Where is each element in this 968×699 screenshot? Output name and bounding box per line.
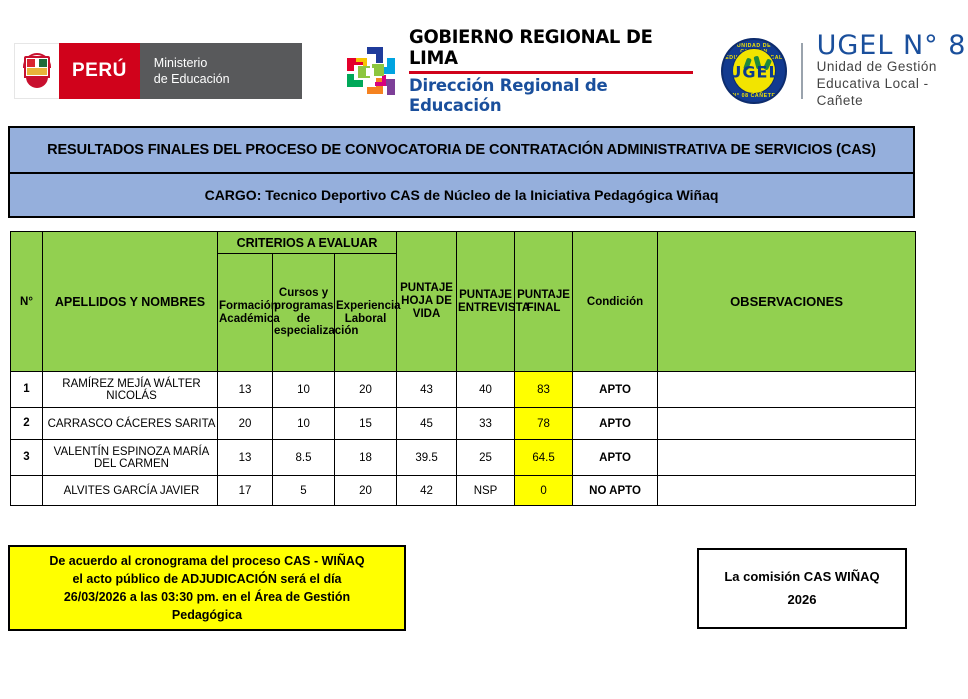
- cell-condicion: APTO: [573, 408, 658, 440]
- results-table: N° APELLIDOS Y NOMBRES CRITERIOS A EVALU…: [10, 231, 916, 506]
- ugel-seal-arc-bottom: N° 08 CAÑETE: [723, 93, 784, 99]
- cell-num: 1: [11, 372, 43, 408]
- ugel-title: UGEL N° 8: [817, 32, 968, 60]
- gobierno-regional-lima-logo-icon: [344, 44, 398, 98]
- cell-cursos: 5: [273, 476, 335, 506]
- table-body: 1RAMÍREZ MEJÍA WÁLTER NICOLÁS13102043408…: [11, 372, 916, 506]
- ugel-divider: [801, 43, 803, 99]
- cell-observaciones: [658, 476, 916, 506]
- table-header-row-group: N° APELLIDOS Y NOMBRES CRITERIOS A EVALU…: [11, 232, 916, 254]
- cell-formacion: 20: [218, 408, 273, 440]
- cell-formacion: 13: [218, 372, 273, 408]
- cell-hoja-vida: 39.5: [397, 440, 457, 476]
- ministry-label: Ministerio de Educación: [140, 43, 302, 99]
- direccion-regional-subtitle: Dirección Regional de Educación: [409, 76, 685, 116]
- cell-num: [11, 476, 43, 506]
- gobierno-regional-title: GOBIERNO REGIONAL DE LIMA: [409, 27, 685, 69]
- results-document-page: PERÚ Ministerio de Educación: [0, 0, 968, 699]
- schedule-note-line1: De acuerdo al cronograma del proceso CAS…: [49, 554, 364, 568]
- cell-hoja-vida: 45: [397, 408, 457, 440]
- peru-coat-of-arms-icon: [14, 43, 59, 99]
- cell-final: 64.5: [515, 440, 573, 476]
- cell-cursos: 10: [273, 408, 335, 440]
- col-header-num: N°: [11, 232, 43, 372]
- cell-formacion: 17: [218, 476, 273, 506]
- ministry-line1: Ministerio: [154, 55, 286, 72]
- banner-position: CARGO: Tecnico Deportivo CAS de Núcleo d…: [10, 172, 913, 216]
- gobierno-regional-text: GOBIERNO REGIONAL DE LIMA Dirección Regi…: [409, 27, 694, 116]
- cell-condicion: APTO: [573, 372, 658, 408]
- commission-signature-box: La comisión CAS WIÑAQ 2026: [697, 548, 907, 629]
- cell-hoja-vida: 42: [397, 476, 457, 506]
- cell-name: RAMÍREZ MEJÍA WÁLTER NICOLÁS: [43, 372, 218, 408]
- cell-experiencia: 15: [335, 408, 397, 440]
- commission-line2: 2026: [788, 589, 817, 611]
- cell-condicion: NO APTO: [573, 476, 658, 506]
- cell-condicion: APTO: [573, 440, 658, 476]
- banner-title: RESULTADOS FINALES DEL PROCESO DE CONVOC…: [10, 128, 913, 172]
- cell-experiencia: 20: [335, 476, 397, 506]
- schedule-note-line3: 26/03/2026 a las 03:30 pm. en el Área de…: [64, 590, 350, 604]
- schedule-note-box: De acuerdo al cronograma del proceso CAS…: [8, 545, 406, 631]
- cell-name: CARRASCO CÁCERES SARITA: [43, 408, 218, 440]
- col-header-criterios-group: CRITERIOS A EVALUAR: [218, 232, 397, 254]
- cell-entrevista: NSP: [457, 476, 515, 506]
- cell-entrevista: 40: [457, 372, 515, 408]
- schedule-note-line4: Pedagógica: [172, 608, 242, 622]
- cell-hoja-vida: 43: [397, 372, 457, 408]
- ugel-subtitle-line1: Unidad de Gestión: [817, 59, 968, 76]
- ministry-line2: de Educación: [154, 71, 286, 88]
- ugel-text-block: UGEL N° 8 Unidad de Gestión Educativa Lo…: [817, 32, 968, 110]
- col-header-experiencia: Experiencia Laboral: [335, 254, 397, 372]
- cell-cursos: 8.5: [273, 440, 335, 476]
- cell-num: 2: [11, 408, 43, 440]
- col-header-names: APELLIDOS Y NOMBRES: [43, 232, 218, 372]
- cell-experiencia: 20: [335, 372, 397, 408]
- cell-entrevista: 25: [457, 440, 515, 476]
- peru-label: PERÚ: [59, 43, 140, 99]
- ugel-subtitle-line2: Educativa Local - Cañete: [817, 76, 968, 110]
- cell-final: 0: [515, 476, 573, 506]
- cell-final: 78: [515, 408, 573, 440]
- col-header-hoja-vida: PUNTAJE HOJA DE VIDA: [397, 232, 457, 372]
- cell-formacion: 13: [218, 440, 273, 476]
- cell-experiencia: 18: [335, 440, 397, 476]
- institutional-header: PERÚ Ministerio de Educación: [0, 30, 968, 112]
- gobierno-regional-block: GOBIERNO REGIONAL DE LIMA Dirección Regi…: [344, 39, 694, 103]
- cell-name: VALENTÍN ESPINOZA MARÍA DEL CARMEN: [43, 440, 218, 476]
- table-row[interactable]: 1RAMÍREZ MEJÍA WÁLTER NICOLÁS13102043408…: [11, 372, 916, 408]
- cell-entrevista: 33: [457, 408, 515, 440]
- table-row[interactable]: 2CARRASCO CÁCERES SARITA201015453378APTO: [11, 408, 916, 440]
- cell-cursos: 10: [273, 372, 335, 408]
- results-banner: RESULTADOS FINALES DEL PROCESO DE CONVOC…: [8, 126, 915, 218]
- commission-line1: La comisión CAS WIÑAQ: [724, 566, 879, 588]
- cell-observaciones: [658, 372, 916, 408]
- cell-observaciones: [658, 440, 916, 476]
- minedu-logo-block: PERÚ Ministerio de Educación: [14, 43, 302, 99]
- schedule-note-line2: el acto público de ADJUDICACIÓN será el …: [72, 572, 341, 586]
- cell-num: 3: [11, 440, 43, 476]
- col-header-formacion: Formación Académica: [218, 254, 273, 372]
- ugel-logo-block: UNIDAD DE GESTION EDUCATIVA LOCAL UGEL N…: [721, 36, 968, 106]
- ugel-seal-label: UGEL: [723, 63, 784, 82]
- col-header-condicion: Condición: [573, 232, 658, 372]
- gobierno-regional-rule: [409, 71, 694, 74]
- col-header-observaciones: OBSERVACIONES: [658, 232, 916, 372]
- cell-name: ALVITES GARCÍA JAVIER: [43, 476, 218, 506]
- table-row[interactable]: ALVITES GARCÍA JAVIER1752042NSP0NO APTO: [11, 476, 916, 506]
- cell-final: 83: [515, 372, 573, 408]
- ugel-seal-icon: UNIDAD DE GESTION EDUCATIVA LOCAL UGEL N…: [721, 38, 786, 104]
- col-header-entrevista: PUNTAJE ENTREVISTA: [457, 232, 515, 372]
- col-header-cursos: Cursos y programas de especialización: [273, 254, 335, 372]
- table-row[interactable]: 3VALENTÍN ESPINOZA MARÍA DEL CARMEN138.5…: [11, 440, 916, 476]
- cell-observaciones: [658, 408, 916, 440]
